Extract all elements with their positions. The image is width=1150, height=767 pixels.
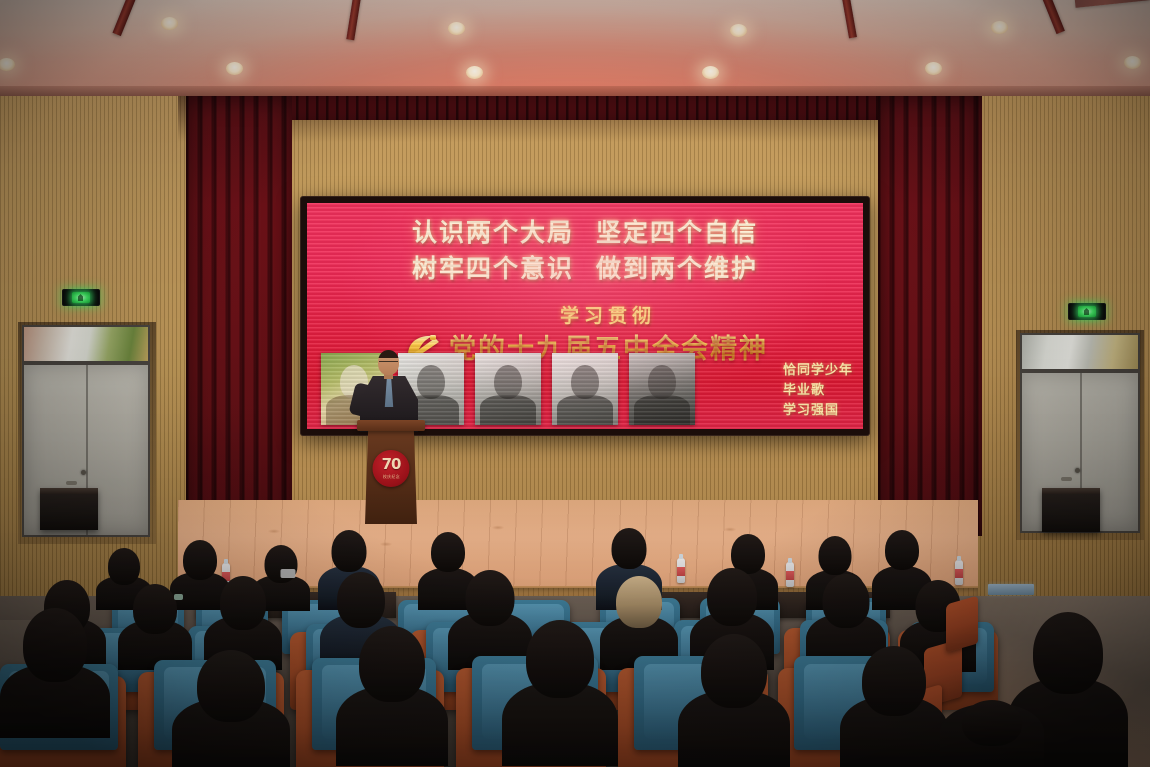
downlight-7 [466, 66, 483, 79]
slogan-line1-left: 认识两个大局 [412, 218, 574, 247]
anniversary-badge: 70 校庆纪念 [373, 450, 410, 487]
attendee-near-6 [840, 646, 948, 767]
door-handle-right[interactable] [1061, 477, 1072, 481]
downlight-2 [448, 22, 465, 35]
side-text-line-3: 学习强国 [783, 401, 853, 421]
attendee-near-2 [172, 650, 290, 767]
attendee-near-4 [502, 620, 618, 766]
exit-sign-left [62, 289, 100, 306]
exit-sign-right [1068, 303, 1106, 320]
podium: 70 校庆纪念 [361, 420, 421, 524]
presenter [358, 350, 420, 430]
door-transom-window-right [1020, 333, 1140, 371]
slogan-line2-right: 做到两个维护 [596, 254, 758, 283]
podium-top [357, 420, 425, 431]
loudspeaker-box-left [40, 488, 98, 530]
downlight-3 [730, 24, 747, 37]
stage-curtain-right [878, 96, 982, 536]
door-transom-window-left [22, 325, 150, 363]
exit-glow-left [72, 292, 90, 303]
attendee-near-5 [678, 634, 790, 767]
screen-title-small: 学习贯彻 [353, 301, 863, 328]
downlight-6 [226, 62, 243, 75]
badge-subtext: 校庆纪念 [382, 474, 399, 480]
screen-side-text: 恰同学少年 毕业歌 学习强国 [783, 361, 853, 421]
side-text-line-2: 毕业歌 [783, 381, 853, 401]
water-bottle-2 [677, 558, 685, 583]
badge-number: 70 [382, 457, 401, 472]
loudspeaker-box-right [1042, 488, 1100, 532]
eyeglasses-icon [379, 361, 398, 366]
portrait-lei-feng [475, 353, 541, 425]
attendee-near-8 [940, 700, 1044, 767]
door-handle-left[interactable] [66, 481, 77, 485]
exit-glow-right [1078, 306, 1096, 317]
screen-slogan-block: 认识两个大局坚定四个自信 树牢四个意识做到两个维护 [307, 215, 863, 287]
downlight-4 [991, 21, 1008, 34]
downlight-1 [161, 17, 178, 30]
face-mask [280, 569, 295, 578]
downlight-10 [1124, 56, 1141, 69]
portrait-deng-xiaoping [552, 353, 618, 425]
attendee-near-3 [336, 626, 448, 766]
portrait-child-historical [629, 353, 695, 425]
side-text-line-1: 恰同学少年 [783, 361, 853, 381]
slogan-line1-right: 坚定四个自信 [596, 218, 758, 247]
slogan-line2-left: 树牢四个意识 [412, 254, 574, 283]
water-bottle-3 [786, 562, 794, 587]
stage-curtain-valance [186, 96, 982, 120]
stage-curtain-left [186, 96, 292, 536]
desk-monitor-3 [988, 584, 1034, 595]
attendee-near-1 [0, 608, 110, 738]
hair-clip [174, 594, 183, 600]
auditorium-scene: 认识两个大局坚定四个自信 树牢四个意识做到两个维护 学习贯彻 [0, 0, 1150, 767]
downlight-8 [702, 66, 719, 79]
ceiling [0, 0, 1150, 100]
downlight-9 [925, 62, 942, 75]
aisle-seat-edge-3[interactable] [946, 595, 978, 652]
